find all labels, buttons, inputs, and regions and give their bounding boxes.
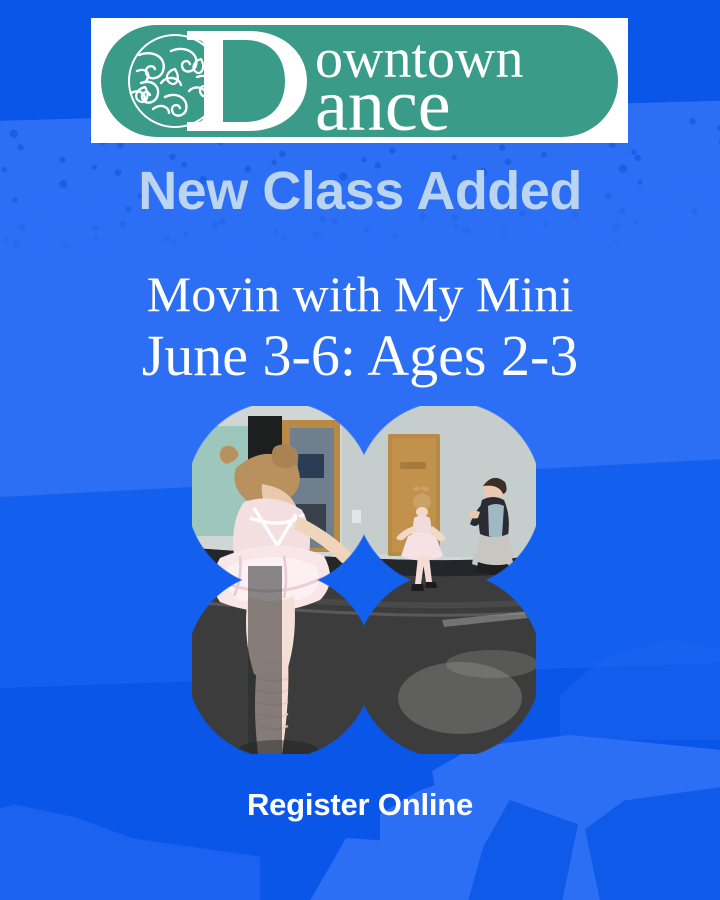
logo-pill: owntown ance [101, 25, 618, 137]
svg-text:ance: ance [315, 65, 451, 137]
logo-wordmark: owntown ance [101, 25, 618, 137]
brand-logo[interactable]: owntown ance [91, 18, 628, 143]
class-photo [192, 406, 536, 754]
dates-ages-heading: June 3-6: Ages 2-3 [0, 326, 720, 387]
bg-polygon-right-mid [560, 600, 720, 740]
promo-poster: owntown ance New Class Added Movin with … [0, 0, 720, 900]
class-name-heading: Movin with My Mini [0, 268, 720, 321]
eyebrow-heading: New Class Added [0, 163, 720, 220]
register-online-cta[interactable]: Register Online [0, 787, 720, 823]
bg-polygon-d [300, 838, 510, 900]
logo-drop-cap [187, 31, 307, 131]
